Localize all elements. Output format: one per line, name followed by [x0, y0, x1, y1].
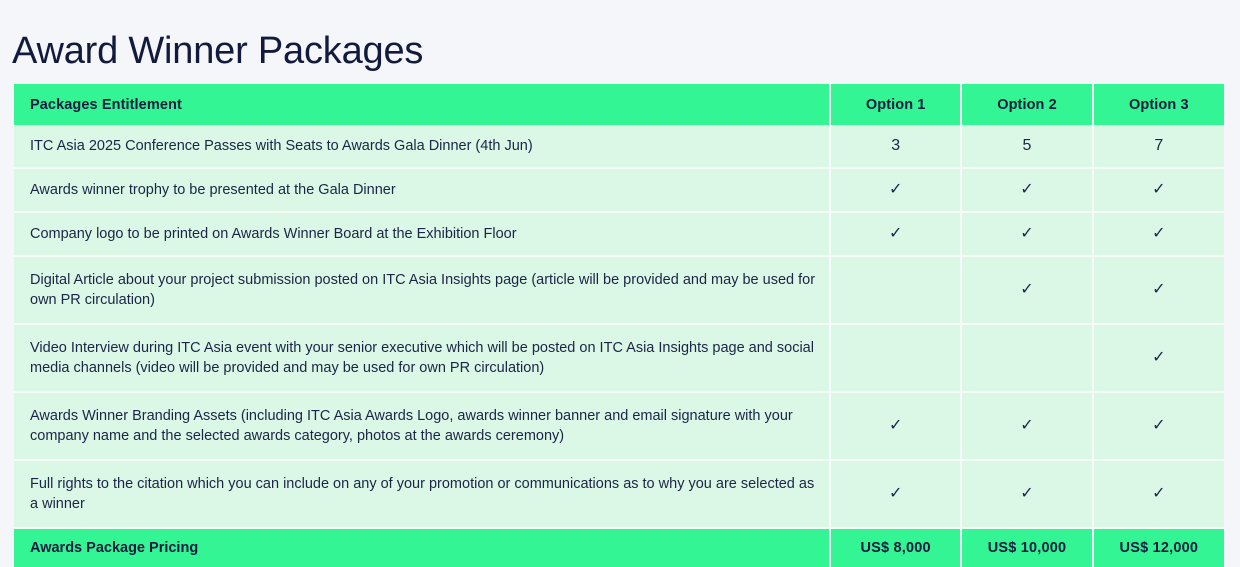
- column-header-entitlement: Packages Entitlement: [14, 84, 830, 125]
- column-header-option-2: Option 2: [961, 84, 1092, 125]
- row-option-1-check-icon: ✓: [830, 168, 961, 212]
- row-entitlement-label: Company logo to be printed on Awards Win…: [14, 212, 830, 256]
- row-entitlement-label: Full rights to the citation which you ca…: [14, 460, 830, 528]
- table-header-row: Packages Entitlement Option 1 Option 2 O…: [14, 84, 1224, 125]
- row-option-3-check-icon: ✓: [1093, 256, 1224, 324]
- row-option-2-check-icon: ✓: [961, 168, 1092, 212]
- column-header-option-1: Option 1: [830, 84, 961, 125]
- pricing-label: Awards Package Pricing: [14, 528, 830, 567]
- pricing-option-1: US$ 8,000: [830, 528, 961, 567]
- table-row: Video Interview during ITC Asia event wi…: [14, 324, 1224, 392]
- row-option-1-check-icon: ✓: [830, 460, 961, 528]
- page-root: Award Winner Packages Packages Entitleme…: [0, 0, 1240, 551]
- row-option-1-check-icon: [830, 324, 961, 392]
- table-body: ITC Asia 2025 Conference Passes with Sea…: [14, 125, 1224, 528]
- table-header: Packages Entitlement Option 1 Option 2 O…: [14, 84, 1224, 125]
- row-option-1-check-icon: ✓: [830, 212, 961, 256]
- pricing-option-2: US$ 10,000: [961, 528, 1092, 567]
- row-option-3-check-icon: ✓: [1093, 460, 1224, 528]
- row-option-3-check-icon: ✓: [1093, 324, 1224, 392]
- row-option-1-check-icon: ✓: [830, 392, 961, 460]
- row-entitlement-label: Digital Article about your project submi…: [14, 256, 830, 324]
- table-row: Awards winner trophy to be presented at …: [14, 168, 1224, 212]
- row-option-1-check-icon: [830, 256, 961, 324]
- row-option-2-check-icon: ✓: [961, 460, 1092, 528]
- row-entitlement-label: Awards Winner Branding Assets (including…: [14, 392, 830, 460]
- row-option-2-check-icon: [961, 324, 1092, 392]
- table-footer: Awards Package Pricing US$ 8,000 US$ 10,…: [14, 528, 1224, 567]
- row-option-2-check-icon: ✓: [961, 256, 1092, 324]
- table-row: Awards Winner Branding Assets (including…: [14, 392, 1224, 460]
- row-option-2-check-icon: ✓: [961, 212, 1092, 256]
- row-option-3-check-icon: ✓: [1093, 392, 1224, 460]
- table-row: Company logo to be printed on Awards Win…: [14, 212, 1224, 256]
- page-title: Award Winner Packages: [12, 23, 423, 79]
- column-header-option-3: Option 3: [1093, 84, 1224, 125]
- row-entitlement-label: ITC Asia 2025 Conference Passes with Sea…: [14, 125, 830, 168]
- table-row: ITC Asia 2025 Conference Passes with Sea…: [14, 125, 1224, 168]
- row-option-1-value: 3: [830, 125, 961, 168]
- packages-comparison-table: Packages Entitlement Option 1 Option 2 O…: [14, 84, 1224, 567]
- row-entitlement-label: Awards winner trophy to be presented at …: [14, 168, 830, 212]
- pricing-row: Awards Package Pricing US$ 8,000 US$ 10,…: [14, 528, 1224, 567]
- table-row: Digital Article about your project submi…: [14, 256, 1224, 324]
- pricing-option-3: US$ 12,000: [1093, 528, 1224, 567]
- table-row: Full rights to the citation which you ca…: [14, 460, 1224, 528]
- row-option-3-check-icon: ✓: [1093, 212, 1224, 256]
- packages-table-wrapper: Packages Entitlement Option 1 Option 2 O…: [14, 84, 1224, 567]
- row-entitlement-label: Video Interview during ITC Asia event wi…: [14, 324, 830, 392]
- row-option-3-check-icon: ✓: [1093, 168, 1224, 212]
- row-option-3-value: 7: [1093, 125, 1224, 168]
- row-option-2-value: 5: [961, 125, 1092, 168]
- row-option-2-check-icon: ✓: [961, 392, 1092, 460]
